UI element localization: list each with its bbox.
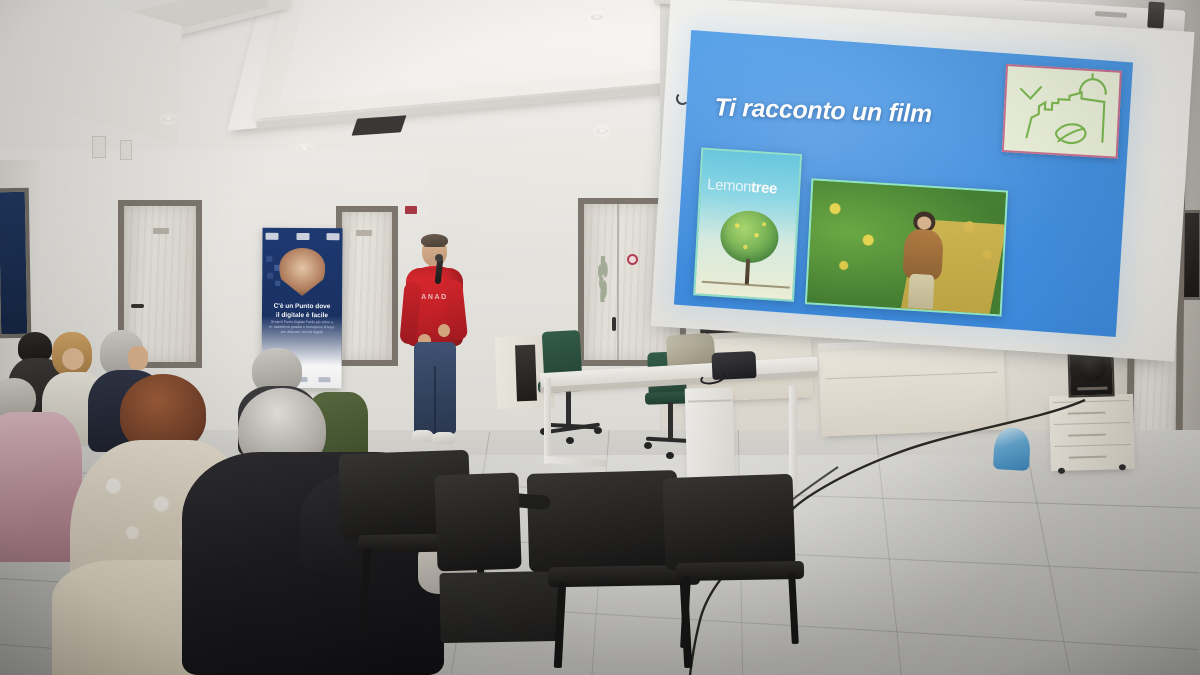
presenter-shoe-right [432, 432, 455, 444]
dome-roof [1080, 78, 1107, 94]
dome-building-icon [1027, 89, 1105, 141]
chair-tablet-arm [439, 571, 560, 643]
poster-tree-trunk [745, 259, 750, 285]
poster-lemon-dots [719, 209, 780, 265]
lemon-grove-film-still [805, 178, 1008, 316]
figure-torso [902, 229, 944, 281]
figure-legs [908, 274, 935, 310]
bird-icon [1020, 86, 1041, 99]
presenter-glasses-icon [424, 246, 445, 250]
poster-title-bold: tree [751, 179, 778, 198]
poster-title-light: Lemon [707, 176, 752, 196]
microphone-head [435, 254, 443, 262]
presentation-room-photo: C'è un Punto dove il digitale è facile S… [0, 0, 1200, 675]
projected-slide: Ti racconto un film Lemontree [674, 30, 1133, 337]
poster-title: Lemontree [707, 176, 800, 199]
presenter-leg-split [434, 366, 436, 434]
presenter-speaking: CANADA [398, 236, 470, 462]
screen-mount-bracket [1147, 2, 1165, 29]
presenter-hand-right [438, 324, 450, 337]
presenter-shoe-left [412, 430, 434, 442]
green-line-art-logo [1002, 64, 1122, 159]
still-woman-figure [896, 210, 951, 308]
figure-face [917, 216, 932, 229]
lemon-tree-movie-poster: Lemontree [693, 147, 802, 301]
